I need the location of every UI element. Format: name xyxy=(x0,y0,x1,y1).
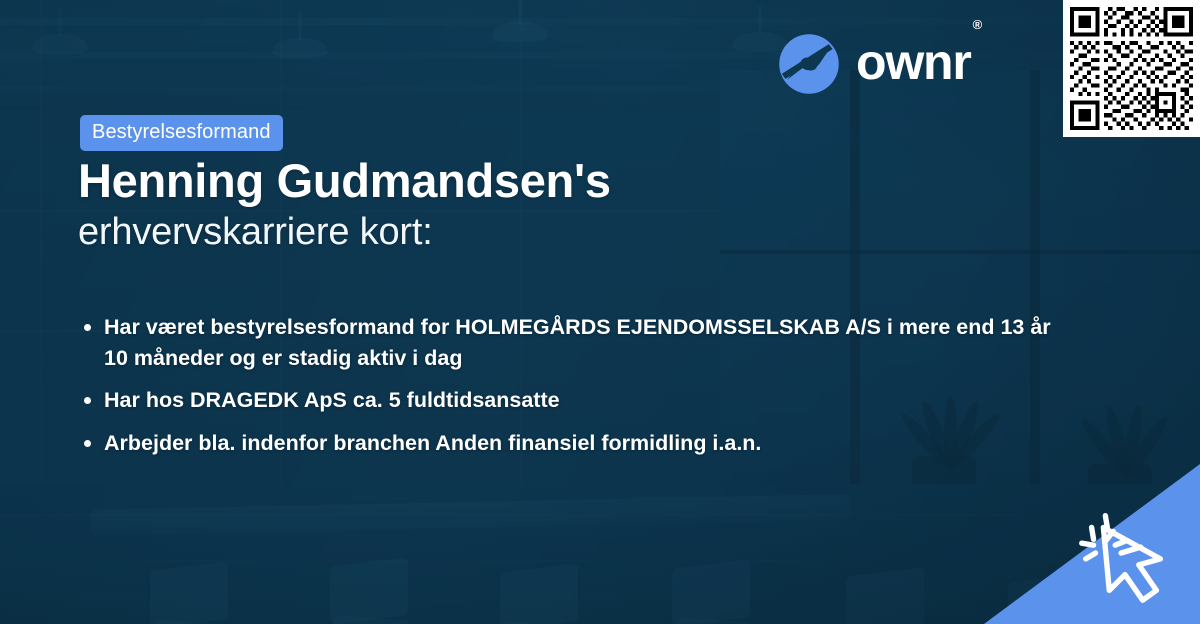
career-summary-list: Har været bestyrelsesformand for HOLMEGÅ… xyxy=(78,312,1078,470)
ownr-wordmark: ownr xyxy=(856,37,971,87)
page-title: Henning Gudmandsen's xyxy=(78,155,611,208)
list-item: Arbejder bla. indenfor branchen Anden fi… xyxy=(78,428,1058,459)
registered-trademark-icon: ® xyxy=(973,17,983,32)
role-badge: Bestyrelsesformand xyxy=(80,115,283,151)
qr-code-icon xyxy=(1070,7,1193,130)
business-card-banner: Bestyrelsesformand Henning Gudmandsen's … xyxy=(0,0,1200,624)
list-item: Har været bestyrelsesformand for HOLMEGÅ… xyxy=(78,312,1058,374)
click-cursor-icon xyxy=(1066,498,1184,610)
list-item: Har hos DRAGEDK ApS ca. 5 fuldtidsansatt… xyxy=(78,385,1058,416)
ownr-swirl-circle-icon xyxy=(778,33,840,95)
corner-accent xyxy=(984,464,1200,624)
qr-code-panel[interactable] xyxy=(1063,0,1200,137)
ownr-logo[interactable]: ownr ® xyxy=(778,33,980,95)
page-subtitle: erhvervskarriere kort: xyxy=(78,211,433,255)
